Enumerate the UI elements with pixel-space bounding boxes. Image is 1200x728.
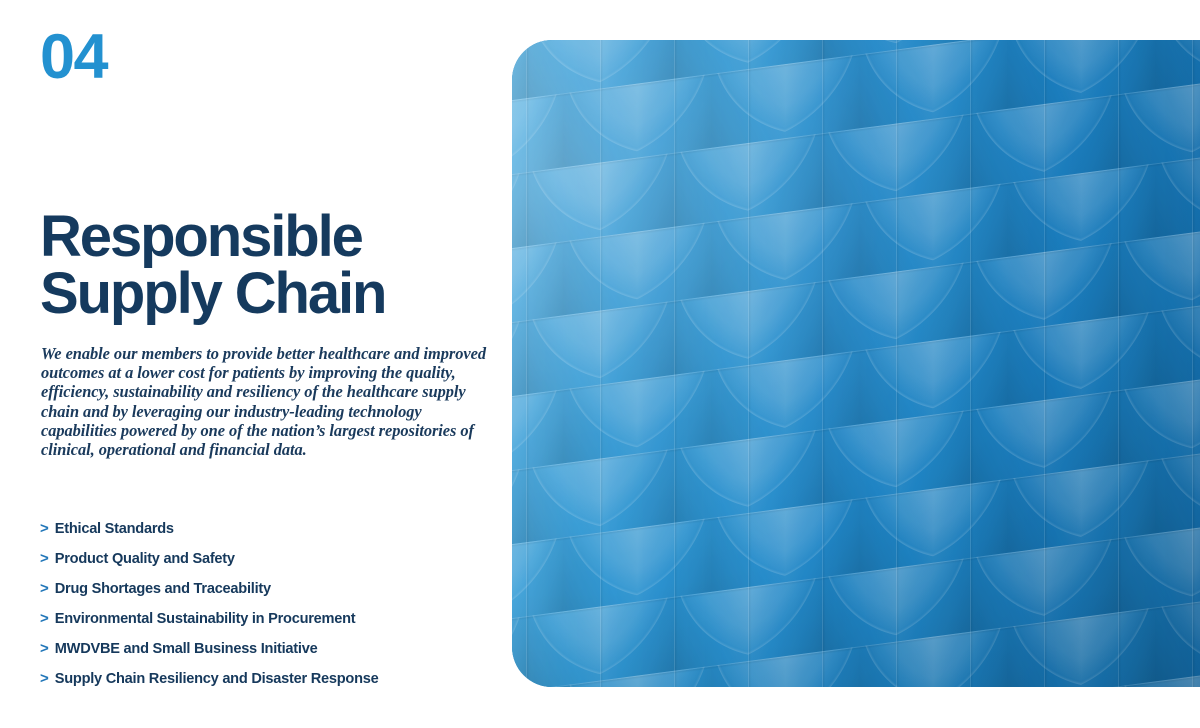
list-item[interactable]: > Product Quality and Safety — [40, 551, 500, 581]
panel-vignette — [512, 40, 1200, 687]
chevron-right-icon: > — [40, 521, 49, 536]
chevron-right-icon: > — [40, 641, 49, 656]
blue-quilted-panel-image — [512, 40, 1200, 687]
left-content-column: 04 Responsible Supply Chain We enable ou… — [40, 0, 500, 728]
list-item-label: Product Quality and Safety — [55, 552, 235, 567]
list-item-label: Environmental Sustainability in Procurem… — [55, 612, 356, 627]
slide-canvas: 04 Responsible Supply Chain We enable ou… — [0, 0, 1200, 728]
chevron-right-icon: > — [40, 581, 49, 596]
page-title: Responsible Supply Chain — [40, 208, 500, 323]
list-item[interactable]: > Environmental Sustainability in Procur… — [40, 611, 500, 641]
topic-list: > Ethical Standards > Product Quality an… — [40, 521, 500, 701]
chevron-right-icon: > — [40, 611, 49, 626]
chevron-right-icon: > — [40, 551, 49, 566]
list-item[interactable]: > Ethical Standards — [40, 521, 500, 551]
intro-paragraph: We enable our members to provide better … — [41, 344, 497, 459]
list-item-label: MWDVBE and Small Business Initiative — [55, 642, 318, 657]
list-item-label: Drug Shortages and Traceability — [55, 582, 271, 597]
list-item[interactable]: > Supply Chain Resiliency and Disaster R… — [40, 671, 500, 701]
list-item[interactable]: > Drug Shortages and Traceability — [40, 581, 500, 611]
list-item-label: Supply Chain Resiliency and Disaster Res… — [55, 672, 379, 687]
section-number: 04 — [40, 26, 107, 89]
chevron-right-icon: > — [40, 671, 49, 686]
title-block: Responsible Supply Chain — [40, 208, 500, 323]
list-item-label: Ethical Standards — [55, 522, 174, 537]
list-item[interactable]: > MWDVBE and Small Business Initiative — [40, 641, 500, 671]
